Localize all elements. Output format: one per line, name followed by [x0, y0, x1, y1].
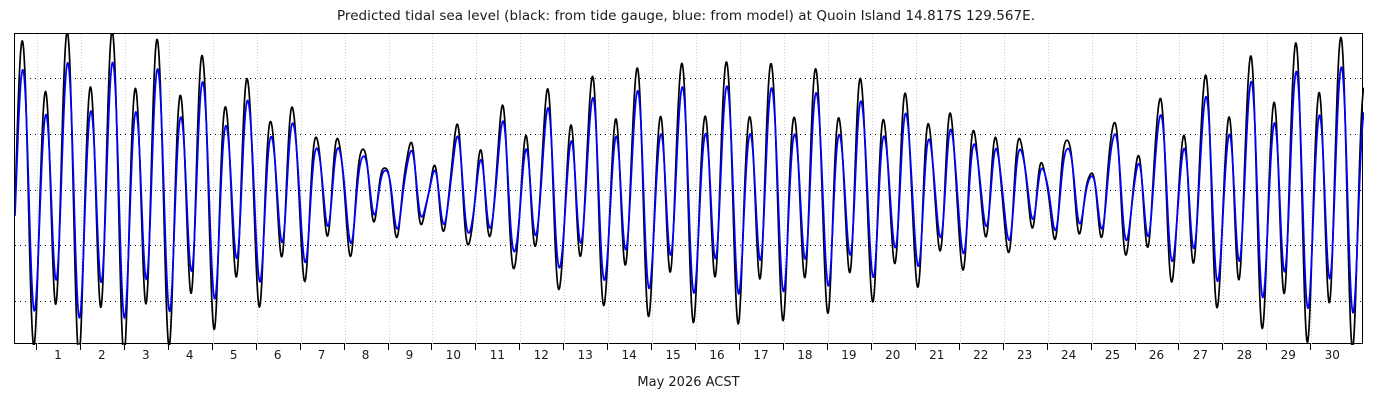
- x-tick-mark-8: [344, 344, 345, 350]
- x-tick-label-8: 8: [362, 348, 370, 362]
- x-tick-label-22: 22: [973, 348, 988, 362]
- x-tick-mark-15: [651, 344, 652, 350]
- x-tick-mark-29: [1266, 344, 1267, 350]
- x-tick-label-15: 15: [665, 348, 680, 362]
- x-tick-label-18: 18: [797, 348, 812, 362]
- series-tide-gauge: [15, 34, 1364, 345]
- x-tick-label-3: 3: [142, 348, 150, 362]
- x-tick-mark-20: [871, 344, 872, 350]
- plot-canvas: [15, 34, 1364, 345]
- x-tick-mark-6: [256, 344, 257, 350]
- tide-chart-figure: Predicted tidal sea level (black: from t…: [0, 0, 1400, 400]
- x-tick-label-29: 29: [1281, 348, 1296, 362]
- x-tick-label-28: 28: [1237, 348, 1252, 362]
- x-tick-label-12: 12: [534, 348, 549, 362]
- credit-container: © IMOS 26-Oct-2025 00:43:29. *Not for na…: [1382, 0, 1400, 400]
- x-tick-mark-13: [563, 344, 564, 350]
- x-tick-mark-9: [388, 344, 389, 350]
- tide-series-svg: [15, 34, 1364, 345]
- x-tick-label-19: 19: [841, 348, 856, 362]
- x-tick-mark-12: [519, 344, 520, 350]
- x-tick-label-7: 7: [318, 348, 326, 362]
- x-tick-mark-23: [1003, 344, 1004, 350]
- x-tick-label-24: 24: [1061, 348, 1076, 362]
- x-tick-label-16: 16: [709, 348, 724, 362]
- x-tick-mark-17: [739, 344, 740, 350]
- x-tick-label-13: 13: [578, 348, 593, 362]
- x-tick-mark-22: [959, 344, 960, 350]
- x-tick-mark-28: [1222, 344, 1223, 350]
- x-tick-mark-30: [1310, 344, 1311, 350]
- x-tick-label-4: 4: [186, 348, 194, 362]
- x-tick-mark-18: [783, 344, 784, 350]
- x-tick-label-27: 27: [1193, 348, 1208, 362]
- x-tick-mark-2: [80, 344, 81, 350]
- x-tick-mark-11: [475, 344, 476, 350]
- plot-area: [14, 33, 1363, 344]
- x-tick-label-6: 6: [274, 348, 282, 362]
- x-tick-mark-5: [212, 344, 213, 350]
- x-tick-mark-24: [1047, 344, 1048, 350]
- x-tick-label-11: 11: [490, 348, 505, 362]
- x-axis-title: May 2026 ACST: [14, 375, 1363, 391]
- x-tick-label-2: 2: [98, 348, 106, 362]
- x-tick-mark-26: [1135, 344, 1136, 350]
- x-tick-label-20: 20: [885, 348, 900, 362]
- x-tick-label-21: 21: [929, 348, 944, 362]
- x-tick-mark-3: [124, 344, 125, 350]
- x-tick-label-10: 10: [446, 348, 461, 362]
- x-tick-mark-21: [915, 344, 916, 350]
- page-title: Predicted tidal sea level (black: from t…: [0, 8, 1372, 25]
- x-tick-label-17: 17: [753, 348, 768, 362]
- x-tick-mark-1: [36, 344, 37, 350]
- x-tick-label-5: 5: [230, 348, 238, 362]
- x-tick-label-30: 30: [1325, 348, 1340, 362]
- x-tick-label-14: 14: [622, 348, 637, 362]
- x-tick-mark-14: [607, 344, 608, 350]
- x-tick-label-25: 25: [1105, 348, 1120, 362]
- x-tick-mark-27: [1178, 344, 1179, 350]
- x-tick-label-23: 23: [1017, 348, 1032, 362]
- x-tick-mark-4: [168, 344, 169, 350]
- x-tick-mark-10: [431, 344, 432, 350]
- x-tick-label-9: 9: [406, 348, 414, 362]
- x-tick-mark-16: [695, 344, 696, 350]
- x-tick-mark-19: [827, 344, 828, 350]
- x-tick-label-26: 26: [1149, 348, 1164, 362]
- x-tick-mark-7: [300, 344, 301, 350]
- x-axis: 1234567891011121314151617181920212223242…: [14, 348, 1363, 368]
- x-tick-label-1: 1: [54, 348, 62, 362]
- x-tick-mark-25: [1091, 344, 1092, 350]
